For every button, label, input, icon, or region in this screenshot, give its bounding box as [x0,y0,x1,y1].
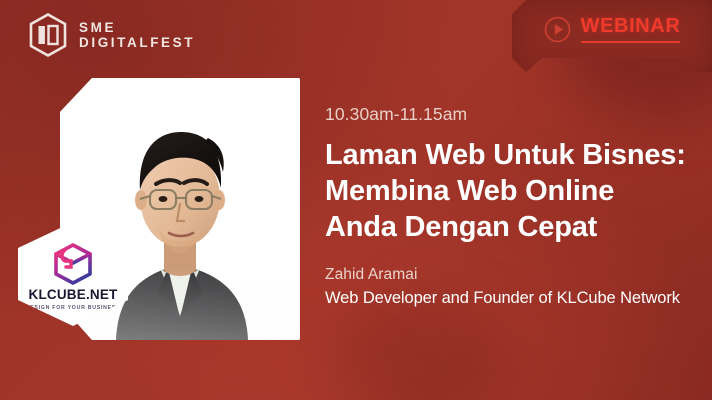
session-details: 10.30am-11.15am Laman Web Untuk Bisnes: … [325,104,697,308]
hexagon-logo-icon [28,13,68,57]
brand-wordmark: SME DIGITALFEST [79,20,195,50]
klcube-name: KLCUBE.NET [29,288,118,302]
brand-line-2: DIGITALFEST [79,35,195,50]
klcube-tagline: DESIGN FOR YOUR BUSINESS [26,305,121,311]
webinar-badge: WEBINAR [512,0,712,58]
play-circle-icon [544,16,571,43]
brand-line-1: SME [79,20,195,35]
background-blotch [150,340,390,400]
session-time: 10.30am-11.15am [325,104,697,125]
webinar-label: WEBINAR [581,16,681,36]
speaker-name: Zahid Aramai [325,266,697,284]
session-title: Laman Web Untuk Bisnes: Membina Web Onli… [325,138,697,246]
speaker-role: Web Developer and Founder of KLCube Netw… [325,289,697,308]
session-title-line-2: Membina Web Online [325,174,697,210]
cube-logo-icon [49,241,97,287]
webinar-underline [581,41,681,43]
session-title-line-1: Laman Web Untuk Bisnes: [325,138,697,174]
background-blotch [330,300,510,400]
webinar-promo-card: SME DIGITALFEST WEBINAR [0,0,712,400]
webinar-label-group: WEBINAR [581,16,681,43]
session-title-line-3: Anda Dengan Cepat [325,210,697,246]
brand-logo: SME DIGITALFEST [28,13,195,57]
